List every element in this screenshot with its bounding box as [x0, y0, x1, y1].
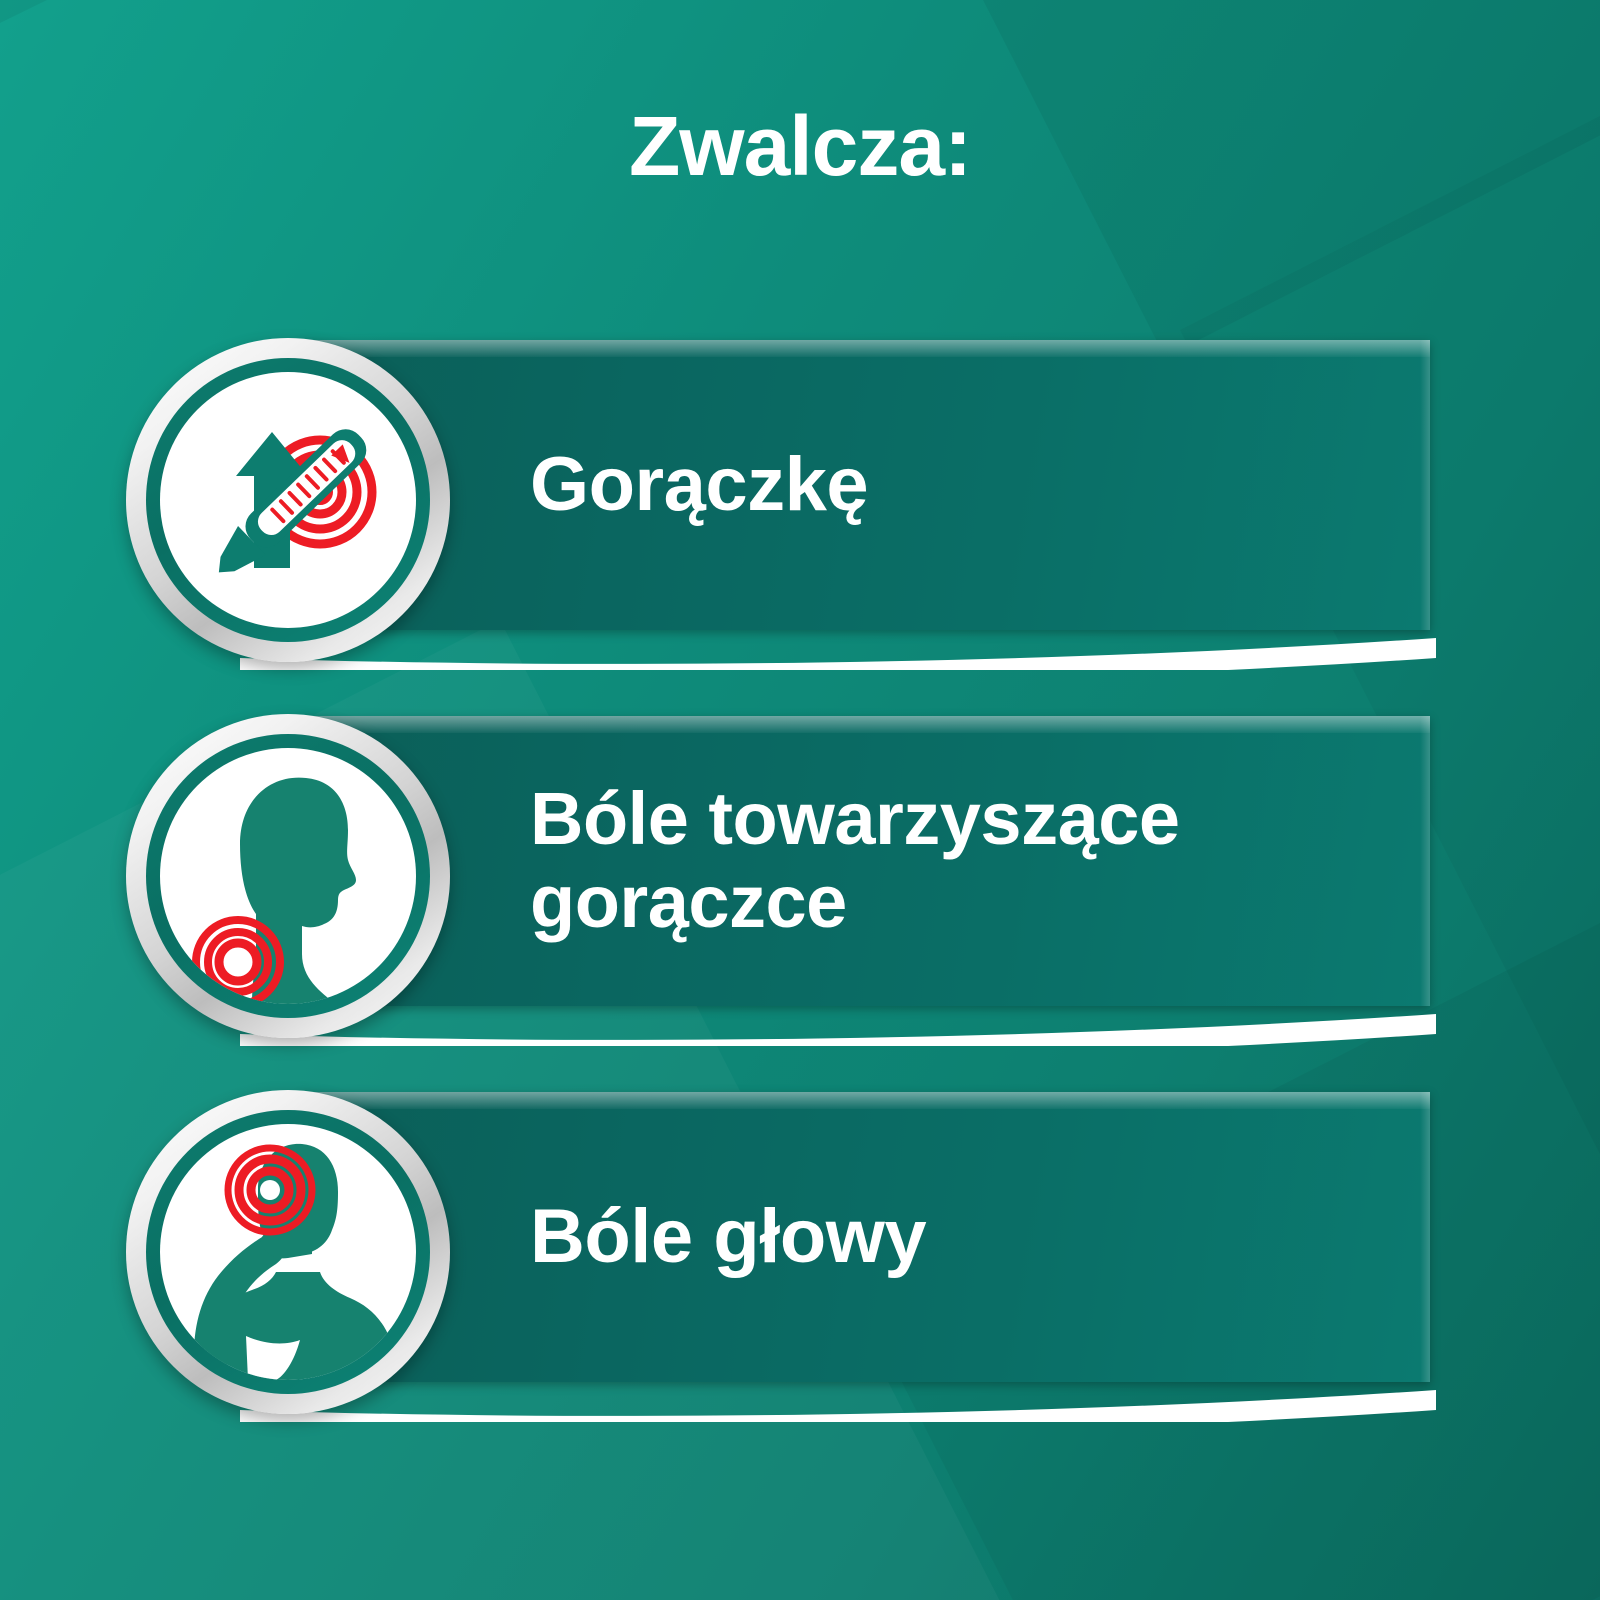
panel-right-edge: [1420, 1092, 1430, 1382]
item-label: Bóle głowy: [530, 1092, 1410, 1382]
sore-throat-head-profile-icon: [160, 748, 416, 1004]
item-icon: [126, 338, 450, 662]
panel-right-edge: [1420, 340, 1430, 630]
page-title: Zwalcza:: [0, 104, 1600, 188]
item-icon: [126, 714, 450, 1038]
item-label: Bóle towarzyszące gorączce: [530, 716, 1410, 1006]
infographic-canvas: Zwalcza: Gorączkę: [0, 0, 1600, 1600]
headache-person-icon: [160, 1124, 416, 1380]
thermometer-up-arrow-icon: [160, 372, 416, 628]
item-icon: [126, 1090, 450, 1414]
panel-right-edge: [1420, 716, 1430, 1006]
item-label: Gorączkę: [530, 340, 1410, 630]
